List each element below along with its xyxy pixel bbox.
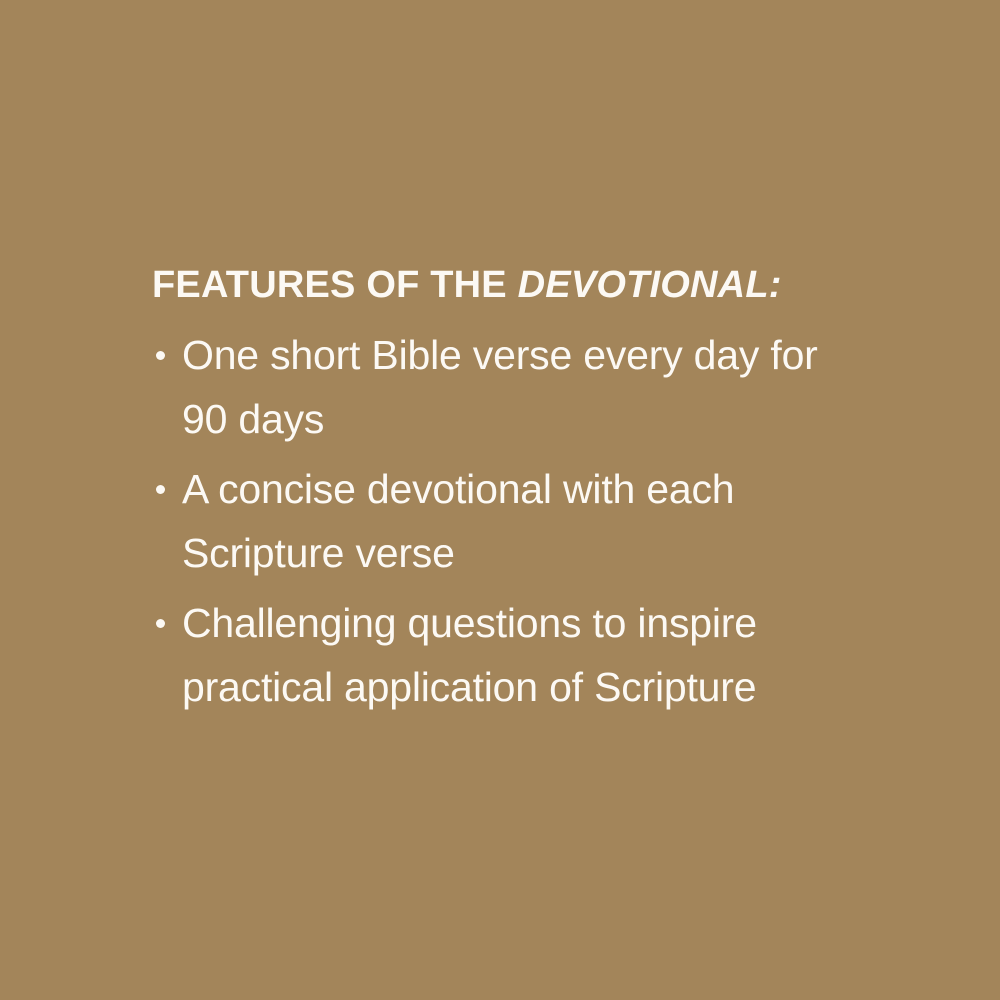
list-item: Challenging questions to inspire practic…: [152, 591, 852, 719]
features-promo-card: FEATURES OF THE DEVOTIONAL: One short Bi…: [0, 0, 1000, 1000]
list-item: A concise devotional with each Scripture…: [152, 457, 852, 585]
list-item-label: Challenging questions to inspire practic…: [182, 591, 852, 719]
features-heading-lead: FEATURES OF THE: [152, 264, 518, 306]
dot-bullet-icon: [156, 619, 165, 628]
dot-bullet-icon: [156, 485, 165, 494]
dot-bullet-icon: [156, 351, 165, 360]
list-item-label: A concise devotional with each Scripture…: [182, 457, 852, 585]
features-heading-emphasis: DEVOTIONAL:: [518, 264, 782, 306]
features-content-block: FEATURES OF THE DEVOTIONAL: One short Bi…: [152, 263, 852, 719]
list-item: One short Bible verse every day for 90 d…: [152, 323, 852, 451]
features-heading: FEATURES OF THE DEVOTIONAL:: [152, 263, 852, 307]
features-list: One short Bible verse every day for 90 d…: [152, 323, 852, 719]
list-item-label: One short Bible verse every day for 90 d…: [182, 323, 852, 451]
